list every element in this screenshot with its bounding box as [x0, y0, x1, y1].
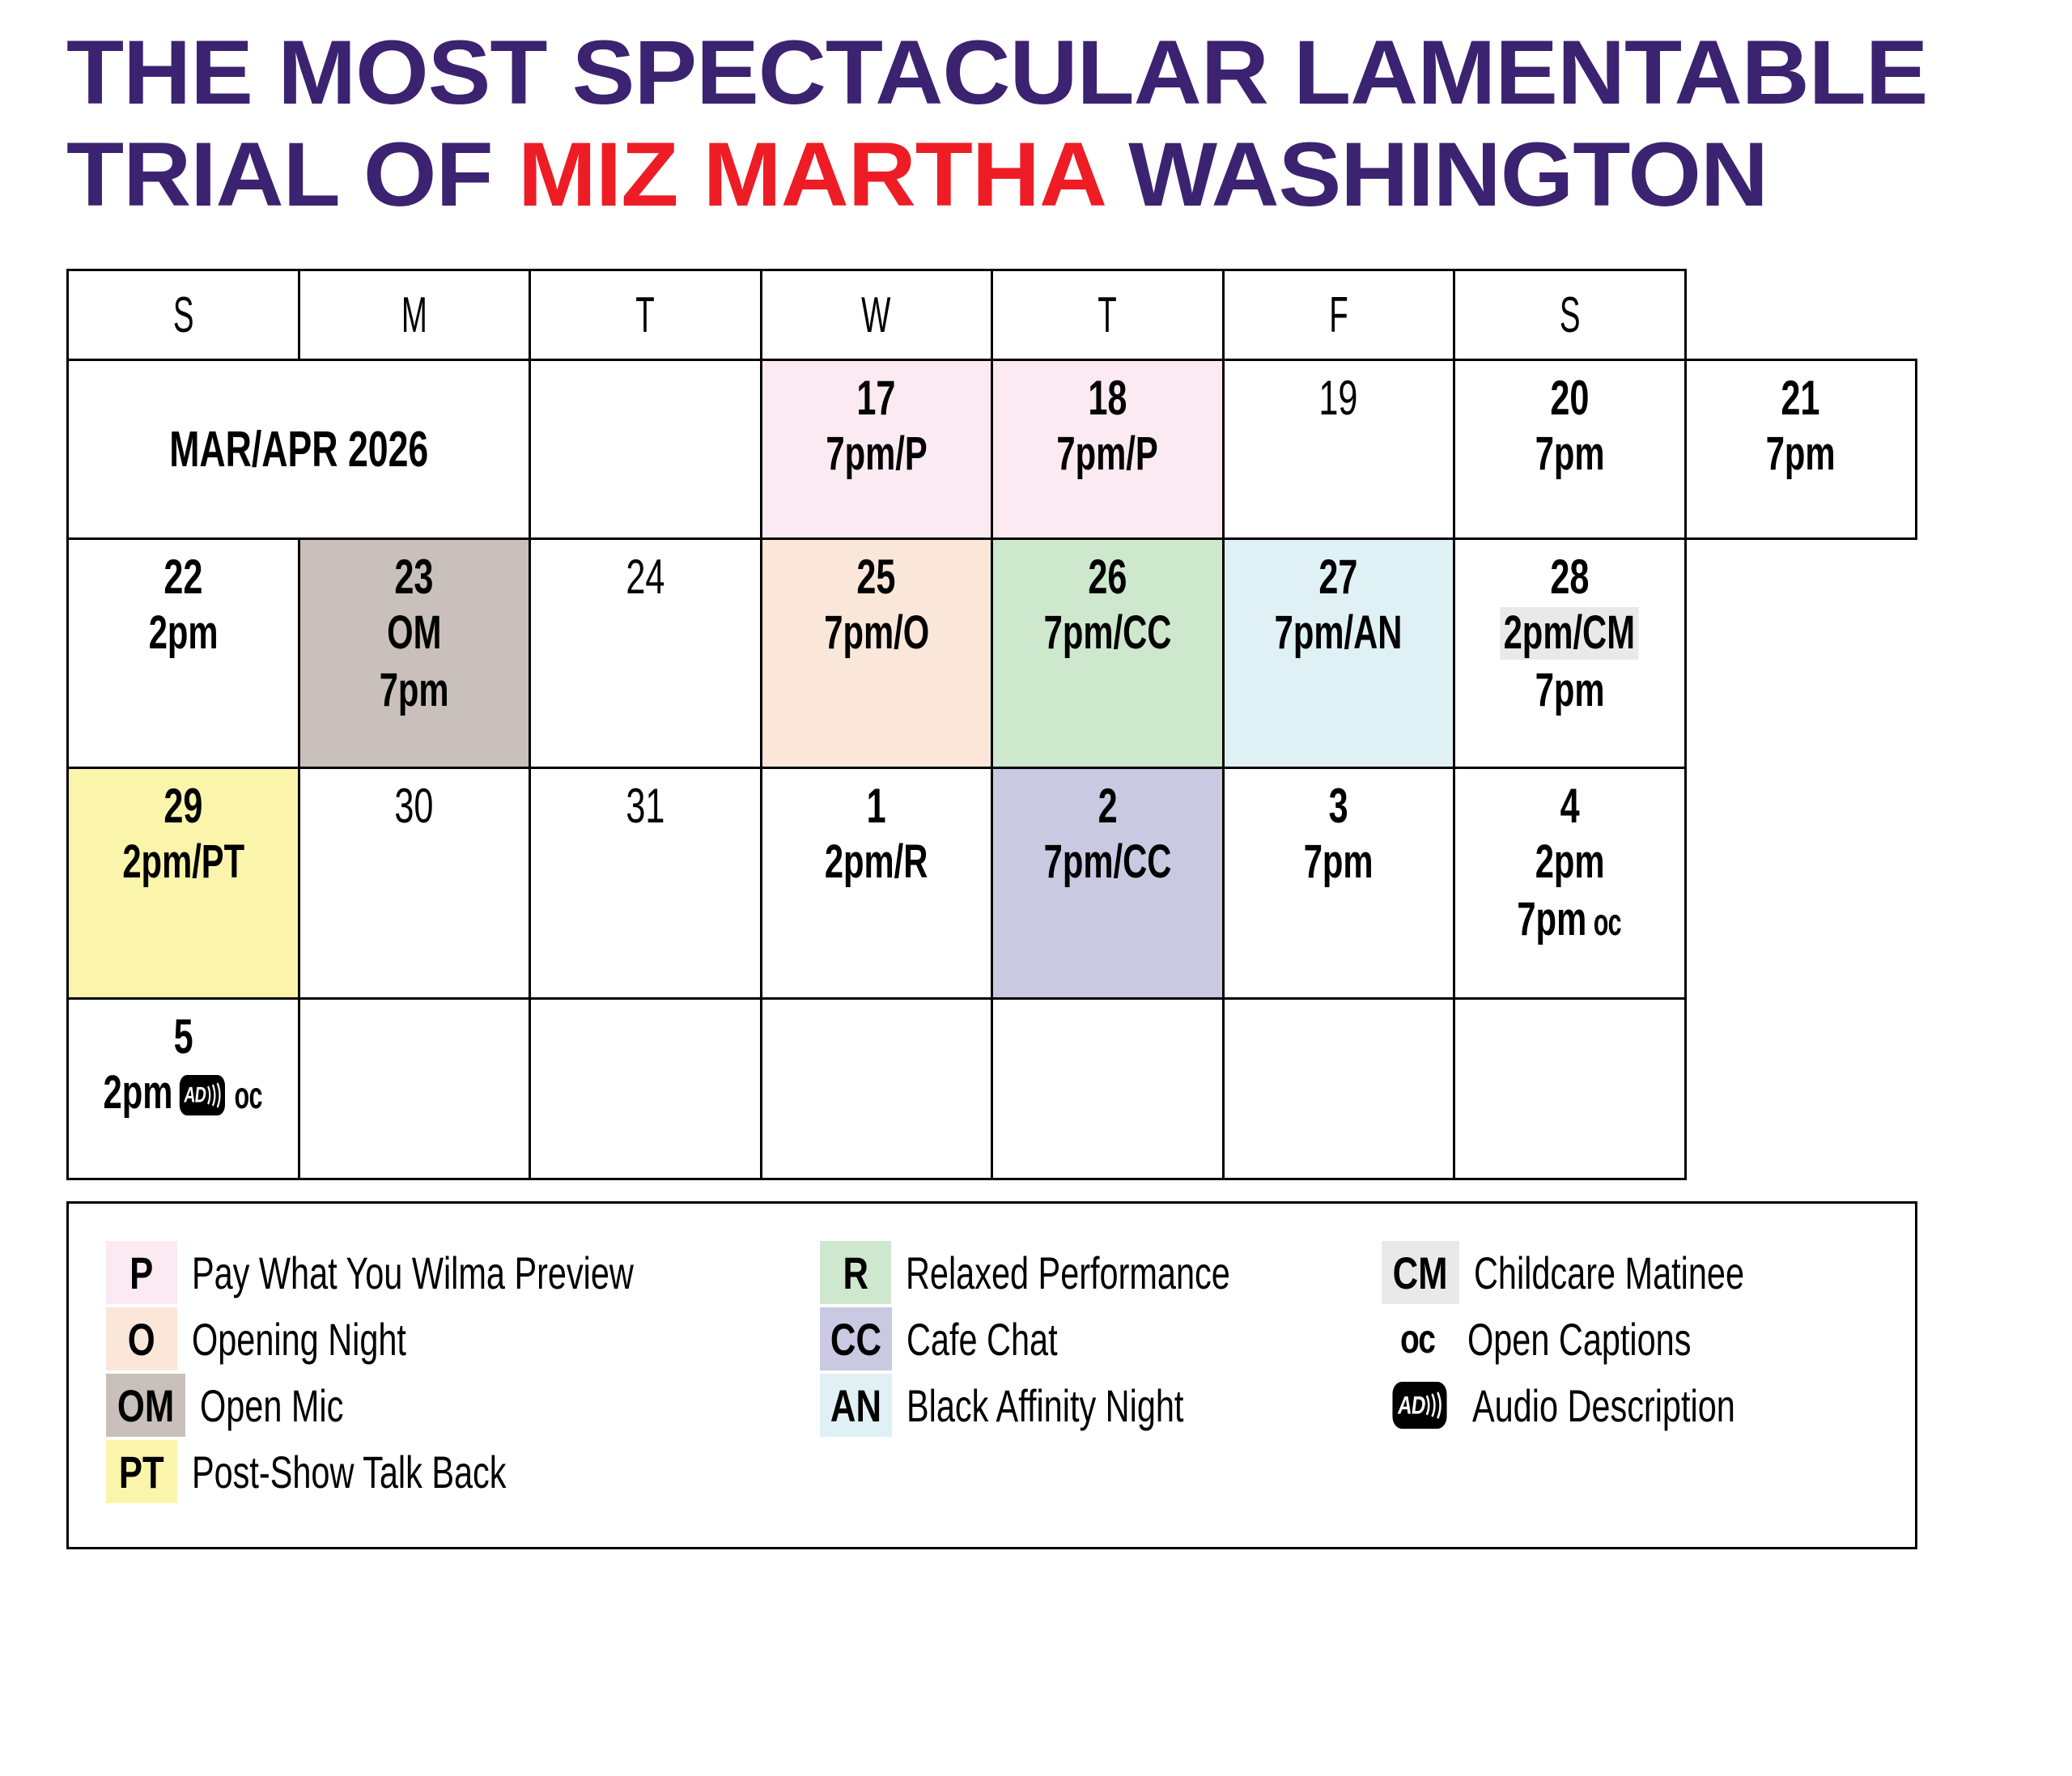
title-line-2-pre: TRIAL OF — [66, 124, 518, 225]
legend-label-text: Open Captions — [1467, 1313, 1691, 1366]
legend-label-text: Audio Description — [1472, 1379, 1735, 1432]
legend-item: OMOpen Mic — [106, 1372, 820, 1438]
legend-item: CCCafe Chat — [820, 1306, 1382, 1372]
day-number: 23 — [395, 551, 434, 602]
day-number: 1 — [867, 780, 886, 831]
day-number: 30 — [395, 780, 434, 831]
calendar-month-label-cell: MAR/APR 2026 — [68, 360, 530, 539]
weekday-header-mon: M — [299, 270, 530, 360]
sound-wave-icon — [206, 1081, 222, 1109]
calendar-day-cell[interactable]: 19 — [1223, 360, 1454, 539]
performance-time: 2pm — [148, 607, 218, 660]
calendar-week-row: 292pm/PT303112pm/R27pm/CC37pm42pm7pmoc — [68, 768, 1917, 999]
calendar-day-cell[interactable]: 217pm — [1685, 360, 1917, 539]
legend-content: PPay What You Wilma PreviewOOpening Nigh… — [106, 1239, 1896, 1539]
calendar-week-row: MAR/APR 2026177pm/P187pm/P19207pm217pm — [68, 360, 1917, 539]
performance-time: 7pm — [1535, 665, 1604, 717]
legend-label: Pay What You Wilma Preview — [192, 1247, 789, 1299]
open-captions-icon: oc — [1400, 1315, 1434, 1362]
legend-label: Childcare Matinee — [1474, 1247, 1839, 1299]
legend-key-text: P — [129, 1247, 153, 1299]
performance-time: 2pm/R — [825, 836, 928, 889]
legend-box: PPay What You Wilma PreviewOOpening Nigh… — [66, 1201, 1917, 1549]
calendar-day-cell[interactable]: 30 — [299, 768, 530, 999]
legend-key-audio-description: AD — [1382, 1374, 1458, 1437]
day-number: 18 — [1088, 372, 1127, 423]
performance-time: 2pm/PT — [122, 836, 244, 889]
calendar-week-row: 222pm23OM7pm24257pm/O267pm/CC277pm/AN282… — [68, 539, 1917, 768]
performance-time: 2pmADoc — [103, 1067, 263, 1120]
legend-column: RRelaxed PerformanceCCCafe ChatANBlack A… — [820, 1239, 1382, 1539]
calendar-empty-cell — [992, 999, 1224, 1179]
legend-key-pt: PT — [106, 1440, 177, 1503]
performance-time: OM — [387, 607, 441, 660]
performance-time: 7pm/CC — [1043, 607, 1171, 660]
weekday-header-tue: T — [530, 270, 762, 360]
calendar-day-cell[interactable]: 12pm/R — [761, 768, 992, 999]
calendar-day-cell[interactable]: 222pm — [68, 539, 299, 768]
legend-item: PTPost-Show Talk Back — [106, 1438, 820, 1505]
day-number: 25 — [857, 551, 896, 602]
day-number: 24 — [626, 551, 664, 602]
day-number: 31 — [626, 780, 664, 831]
performance-time: 7pmoc — [1517, 894, 1622, 946]
month-label: MAR/APR 2026 — [169, 421, 428, 478]
performance-time: 7pm/CC — [1043, 836, 1171, 889]
legend-key-text: CC — [830, 1313, 881, 1366]
title-line-2-highlight: MIZ MARTHA — [518, 124, 1103, 225]
day-number: 26 — [1088, 551, 1127, 602]
day-number: 29 — [163, 780, 202, 831]
calendar-day-cell[interactable]: 52pmADoc — [68, 999, 299, 1179]
legend-label-text: Opening Night — [192, 1313, 406, 1366]
performance-time: 7pm/P — [1057, 428, 1158, 481]
calendar-day-cell[interactable]: 177pm/P — [761, 360, 992, 539]
day-number: 19 — [1319, 372, 1358, 423]
legend-label: Black Affinity Night — [906, 1379, 1281, 1432]
performance-time: 7pm — [380, 665, 449, 717]
calendar-day-cell[interactable]: 292pm/PT — [68, 768, 299, 999]
title-line-2-post: WASHINGTON — [1103, 124, 1768, 225]
legend-label: Open Mic — [200, 1379, 394, 1432]
legend-key-text: OM — [117, 1379, 174, 1432]
legend-column: PPay What You Wilma PreviewOOpening Nigh… — [106, 1239, 820, 1539]
legend-key-text: PT — [119, 1446, 164, 1498]
day-number: 4 — [1560, 780, 1579, 831]
sound-wave-icon — [1425, 1390, 1443, 1421]
calendar-day-cell[interactable]: 42pm7pmoc — [1454, 768, 1686, 999]
legend-key-an: AN — [820, 1374, 892, 1437]
weekday-header-wed: W — [761, 270, 992, 360]
performance-time: 7pm/AN — [1275, 607, 1403, 660]
calendar-empty-cell — [1223, 999, 1454, 1179]
day-number: 2 — [1098, 780, 1117, 831]
legend-label: Post-Show Talk Back — [192, 1446, 617, 1498]
legend-label-text: Black Affinity Night — [906, 1379, 1183, 1432]
legend-label-text: Post-Show Talk Back — [192, 1446, 506, 1498]
weekday-header-thu: T — [992, 270, 1224, 360]
calendar-poster: THE MOST SPECTACULAR LAMENTABLE TRIAL OF… — [0, 0, 2072, 1776]
calendar-day-cell[interactable]: 27pm/CC — [992, 768, 1224, 999]
legend-key-text: O — [128, 1313, 155, 1366]
page-title: THE MOST SPECTACULAR LAMENTABLE TRIAL OF… — [66, 28, 2072, 220]
calendar-week-row: 52pmADoc — [68, 999, 1917, 1179]
performance-calendar: S M T W T F S MAR/APR 2026177pm/P187pm/P… — [66, 269, 1917, 1180]
performance-time: 2pm — [1535, 836, 1604, 889]
weekday-header-sun: S — [68, 270, 299, 360]
legend-key-text: CM — [1393, 1247, 1448, 1299]
legend-column: CMChildcare MatineeocOpen CaptionsADAudi… — [1382, 1239, 1896, 1539]
legend-item: RRelaxed Performance — [820, 1239, 1382, 1306]
calendar-day-cell[interactable]: 207pm — [1454, 360, 1686, 539]
legend-label-text: Relaxed Performance — [906, 1247, 1230, 1299]
calendar-empty-cell — [530, 999, 762, 1179]
performance-time: 2pm/CM — [1501, 607, 1639, 660]
day-number: 20 — [1550, 372, 1589, 423]
day-number: 21 — [1781, 372, 1820, 423]
day-number: 17 — [857, 372, 896, 423]
calendar-empty-cell — [299, 999, 530, 1179]
calendar-day-cell[interactable]: 257pm/O — [761, 539, 992, 768]
legend-label: Audio Description — [1472, 1379, 1828, 1432]
calendar-day-cell[interactable]: 31 — [530, 768, 762, 999]
legend-label-text: Open Mic — [200, 1379, 343, 1432]
calendar-day-cell[interactable]: 23OM7pm — [299, 539, 530, 768]
legend-item: ocOpen Captions — [1382, 1306, 1896, 1372]
weekday-header-fri: F — [1223, 270, 1454, 360]
calendar-day-cell[interactable]: 187pm/P — [992, 360, 1224, 539]
calendar-day-cell[interactable]: 277pm/AN — [1223, 539, 1454, 768]
calendar-day-cell[interactable]: 282pm/CM7pm — [1454, 539, 1686, 768]
legend-label: Open Captions — [1467, 1313, 1770, 1366]
legend-label-text: Childcare Matinee — [1474, 1247, 1744, 1299]
day-number: 28 — [1550, 551, 1589, 602]
legend-item: CMChildcare Matinee — [1382, 1239, 1896, 1306]
performance-time: 7pm/P — [826, 428, 927, 481]
performance-time: 7pm — [1766, 428, 1836, 481]
performance-time: 7pm — [1535, 428, 1604, 481]
open-captions-icon: oc — [1594, 902, 1621, 944]
legend-key-cc: CC — [820, 1307, 892, 1370]
legend-item: OOpening Night — [106, 1306, 820, 1372]
day-number: 3 — [1329, 780, 1348, 831]
legend-key-p: P — [106, 1241, 177, 1304]
title-line-1: THE MOST SPECTACULAR LAMENTABLE — [66, 28, 2072, 118]
calendar-day-cell[interactable]: 24 — [530, 539, 762, 768]
performance-time: 7pm/O — [824, 607, 929, 660]
calendar-empty-cell — [530, 360, 762, 539]
legend-key-text: AN — [830, 1379, 881, 1432]
calendar-empty-cell — [1454, 999, 1686, 1179]
audio-description-icon: AD — [180, 1075, 225, 1115]
legend-item: ANBlack Affinity Night — [820, 1372, 1382, 1438]
day-number: 22 — [163, 551, 202, 602]
calendar-day-cell[interactable]: 267pm/CC — [992, 539, 1224, 768]
weekday-header-sat: S — [1454, 270, 1686, 360]
weekday-header-row: S M T W T F S — [68, 270, 1917, 360]
legend-key-o: O — [106, 1307, 177, 1370]
performance-time: 7pm — [1304, 836, 1374, 889]
legend-key-text: R — [843, 1247, 869, 1299]
calendar-body: MAR/APR 2026177pm/P187pm/P19207pm217pm22… — [68, 360, 1917, 1179]
legend-item: ADAudio Description — [1382, 1372, 1896, 1438]
legend-label-text: Cafe Chat — [906, 1313, 1058, 1366]
legend-label: Opening Night — [192, 1313, 482, 1366]
legend-label-text: Pay What You Wilma Preview — [192, 1247, 634, 1299]
calendar-day-cell[interactable]: 37pm — [1223, 768, 1454, 999]
open-captions-icon: oc — [234, 1075, 261, 1117]
legend-key-om: OM — [106, 1374, 185, 1437]
day-number: 27 — [1319, 551, 1358, 602]
legend-label: Cafe Chat — [906, 1313, 1110, 1366]
calendar-empty-cell — [761, 999, 992, 1179]
legend-label: Relaxed Performance — [906, 1247, 1344, 1299]
title-line-2: TRIAL OF MIZ MARTHA WASHINGTON — [66, 130, 2072, 220]
legend-item: PPay What You Wilma Preview — [106, 1239, 820, 1306]
audio-description-icon: AD — [1393, 1382, 1447, 1429]
legend-key-open-captions: oc — [1382, 1307, 1453, 1370]
legend-key-r: R — [820, 1241, 891, 1304]
legend-key-cm: CM — [1382, 1241, 1458, 1304]
day-number: 5 — [173, 1011, 193, 1062]
